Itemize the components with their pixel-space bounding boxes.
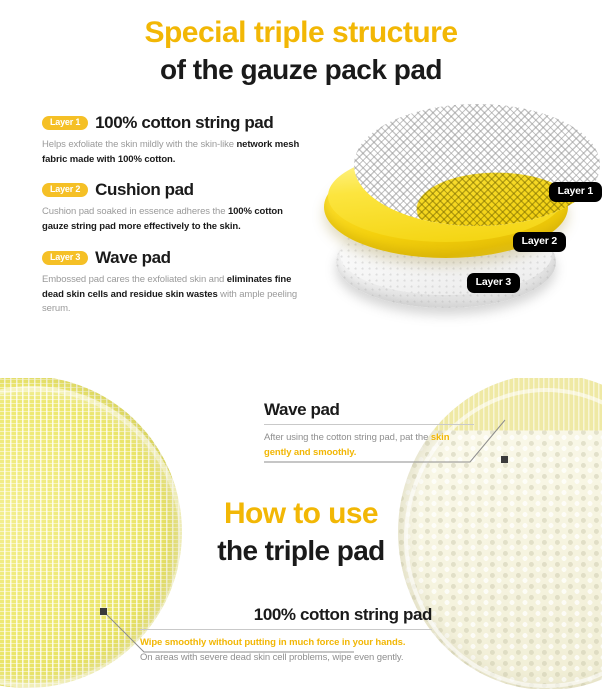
- product-illustration: Layer 1 Layer 2 Layer 3: [318, 98, 602, 330]
- headline-line-1: Special triple structure: [0, 14, 602, 52]
- layer-3-header: Layer 3 Wave pad: [42, 248, 312, 268]
- layer-item-3: Layer 3 Wave pad Embossed pad cares the …: [42, 248, 312, 317]
- layer-3-badge: Layer 3: [42, 251, 88, 265]
- wave-pad-caption-body: After using the cotton string pad, pat t…: [264, 425, 474, 460]
- layer-3-title: Wave pad: [95, 248, 171, 268]
- how-to-use-title: How to use the triple pad: [0, 494, 602, 569]
- layer-1-badge: Layer 1: [42, 116, 88, 130]
- wave-pad-leader-marker: [501, 456, 508, 463]
- how-to-use-line-2: the triple pad: [0, 533, 602, 569]
- cotton-pad-caption: 100% cotton string pad Wipe smoothly wit…: [140, 605, 432, 665]
- triple-structure-section: Special triple structure of the gauze pa…: [0, 0, 602, 378]
- cotton-pad-caption-highlight: Wipe smoothly without putting in much fo…: [140, 635, 432, 650]
- how-to-use-line-1: How to use: [0, 494, 602, 533]
- layer-2-desc-plain: Cushion pad soaked in essence adheres th…: [42, 206, 228, 217]
- layer-1-description: Helps exfoliate the skin mildly with the…: [42, 138, 300, 167]
- product-pin-layer-2: Layer 2: [513, 232, 566, 252]
- layer-2-description: Cushion pad soaked in essence adheres th…: [42, 205, 300, 234]
- layer-2-header: Layer 2 Cushion pad: [42, 180, 312, 200]
- wave-pad-caption-plain: After using the cotton string pad, pat t…: [264, 432, 431, 443]
- layer-list: Layer 1 100% cotton string pad Helps exf…: [42, 113, 312, 330]
- layer-1-desc-plain: Helps exfoliate the skin mildly with the…: [42, 139, 236, 150]
- layer-3-desc-plain: Embossed pad cares the exfoliated skin a…: [42, 274, 227, 285]
- cotton-pad-caption-title: 100% cotton string pad: [140, 605, 432, 629]
- wave-pad-caption-title: Wave pad: [264, 400, 474, 424]
- layer-3-description: Embossed pad cares the exfoliated skin a…: [42, 273, 300, 317]
- layer-2-title: Cushion pad: [95, 180, 194, 200]
- infographic-page: Special triple structure of the gauze pa…: [0, 0, 602, 689]
- how-to-use-section: Wave pad After using the cotton string p…: [0, 378, 602, 689]
- headline-line-2: of the gauze pack pad: [0, 52, 602, 88]
- layer-1-title: 100% cotton string pad: [95, 113, 273, 133]
- layer-item-1: Layer 1 100% cotton string pad Helps exf…: [42, 113, 312, 167]
- cotton-string-mesh-overlap: [354, 104, 600, 226]
- page-title: Special triple structure of the gauze pa…: [0, 14, 602, 88]
- product-pin-layer-3: Layer 3: [467, 273, 520, 293]
- product-pin-layer-1: Layer 1: [549, 182, 602, 202]
- cotton-pad-caption-plain: On areas with severe dead skin cell prob…: [140, 652, 403, 663]
- layer-item-2: Layer 2 Cushion pad Cushion pad soaked i…: [42, 180, 312, 234]
- cotton-pad-caption-body: Wipe smoothly without putting in much fo…: [140, 630, 432, 665]
- layer-2-badge: Layer 2: [42, 183, 88, 197]
- wave-pad-caption: Wave pad After using the cotton string p…: [264, 400, 474, 460]
- layer-1-header: Layer 1 100% cotton string pad: [42, 113, 312, 133]
- cotton-pad-leader-marker: [100, 608, 107, 615]
